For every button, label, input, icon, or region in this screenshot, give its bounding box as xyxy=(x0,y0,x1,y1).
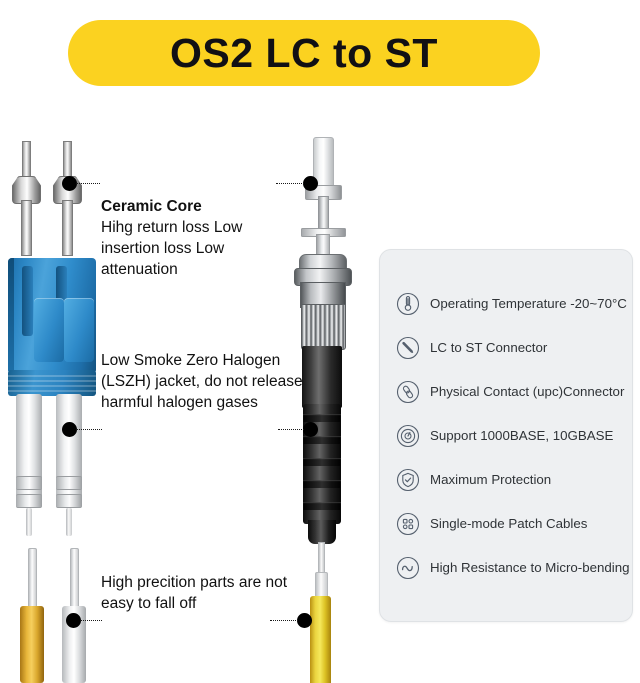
callout-leader-ceramic-right xyxy=(276,183,304,184)
page-title: OS2 LC to ST xyxy=(170,33,438,74)
lc-connector-body xyxy=(8,258,96,373)
feature-item-micro-bending: High Resistance to Micro-bending xyxy=(380,546,632,590)
title-banner: OS2 LC to ST xyxy=(68,20,540,86)
lc-boot-rib-right-2 xyxy=(56,494,82,508)
callout-leader-precision-left xyxy=(80,620,102,621)
lc-latch-left xyxy=(34,298,64,362)
feature-label: Single-mode Patch Cables xyxy=(430,516,587,532)
callout-ceramic-core: Ceramic Core Hihg return loss Low insert… xyxy=(101,196,301,280)
shield-check-icon xyxy=(396,468,420,492)
callout-leader-ceramic-left xyxy=(76,183,100,184)
lc-boot-rib-left-1 xyxy=(16,476,42,490)
callout-dot-precision xyxy=(66,613,81,628)
feature-label: LC to ST Connector xyxy=(430,340,547,356)
st-body xyxy=(302,346,342,408)
lc-ferrule-stem-right xyxy=(62,200,73,256)
callout-dot-ceramic-core xyxy=(62,176,77,191)
callout-leader-lszh-left xyxy=(76,429,102,430)
feature-item-support-standards: Support 1000BASE, 10GBASE xyxy=(380,414,632,458)
feature-item-operating-temperature: Operating Temperature -20~70°C xyxy=(380,282,632,326)
link-icon xyxy=(396,380,420,404)
cable-end-fiber-left xyxy=(28,548,37,612)
st-boot-taper xyxy=(308,520,336,544)
feature-item-connector-type: LC to ST Connector xyxy=(380,326,632,370)
thermometer-icon xyxy=(396,292,420,316)
st-yellow-cable xyxy=(310,596,331,683)
feature-label: Maximum Protection xyxy=(430,472,551,488)
callout-high-precision: High precition parts are not easy to fal… xyxy=(101,572,301,614)
feature-label: Operating Temperature -20~70°C xyxy=(430,296,627,312)
callout-lszh-jacket: Low Smoke Zero Halogen (LSZH) jacket, do… xyxy=(101,350,306,413)
feature-item-physical-contact: Physical Contact (upc)Connector xyxy=(380,370,632,414)
cable-end-fiber-right xyxy=(70,548,79,612)
features-list: Operating Temperature -20~70°C LC to ST … xyxy=(380,250,632,621)
callout-precision-body: High precition parts are not easy to fal… xyxy=(101,574,287,612)
callout-dot-precision-st xyxy=(297,613,312,628)
callout-dot-lszh-st xyxy=(303,422,318,437)
lc-fiber-tail-left xyxy=(26,508,32,536)
lc-body-slot-left xyxy=(22,266,33,336)
lc-fiber-tail-right xyxy=(66,508,72,536)
callout-ceramic-heading: Ceramic Core xyxy=(101,196,301,217)
lc-latch-right xyxy=(64,298,94,362)
callout-dot-ceramic-core-st xyxy=(303,176,318,191)
callout-ceramic-body: Hihg return loss Low insertion loss Low … xyxy=(101,219,242,278)
cable-end-yellow xyxy=(20,606,44,683)
st-knurled-nut xyxy=(301,304,346,350)
lc-ferrule-stem-left xyxy=(21,200,32,256)
feature-label: Physical Contact (upc)Connector xyxy=(430,384,624,400)
callout-lszh-body: Low Smoke Zero Halogen (LSZH) jacket, do… xyxy=(101,352,303,411)
feature-item-maximum-protection: Maximum Protection xyxy=(380,458,632,502)
infographic-canvas: OS2 LC to ST xyxy=(0,0,640,683)
feature-label: High Resistance to Micro-bending xyxy=(430,560,630,576)
lc-boot-rib-left-2 xyxy=(16,494,42,508)
features-panel: Operating Temperature -20~70°C LC to ST … xyxy=(379,249,633,622)
feature-item-single-mode: Single-mode Patch Cables xyxy=(380,502,632,546)
connector-icon xyxy=(396,336,420,360)
grid-dots-icon xyxy=(396,512,420,536)
callout-leader-precision-right xyxy=(270,620,298,621)
wave-icon xyxy=(396,556,420,580)
callout-leader-lszh-right xyxy=(278,429,304,430)
lc-boot-rib-right-1 xyxy=(56,476,82,490)
gauge-icon xyxy=(396,424,420,448)
callout-dot-lszh xyxy=(62,422,77,437)
feature-label: Support 1000BASE, 10GBASE xyxy=(430,428,613,444)
lc-collar xyxy=(8,370,96,396)
